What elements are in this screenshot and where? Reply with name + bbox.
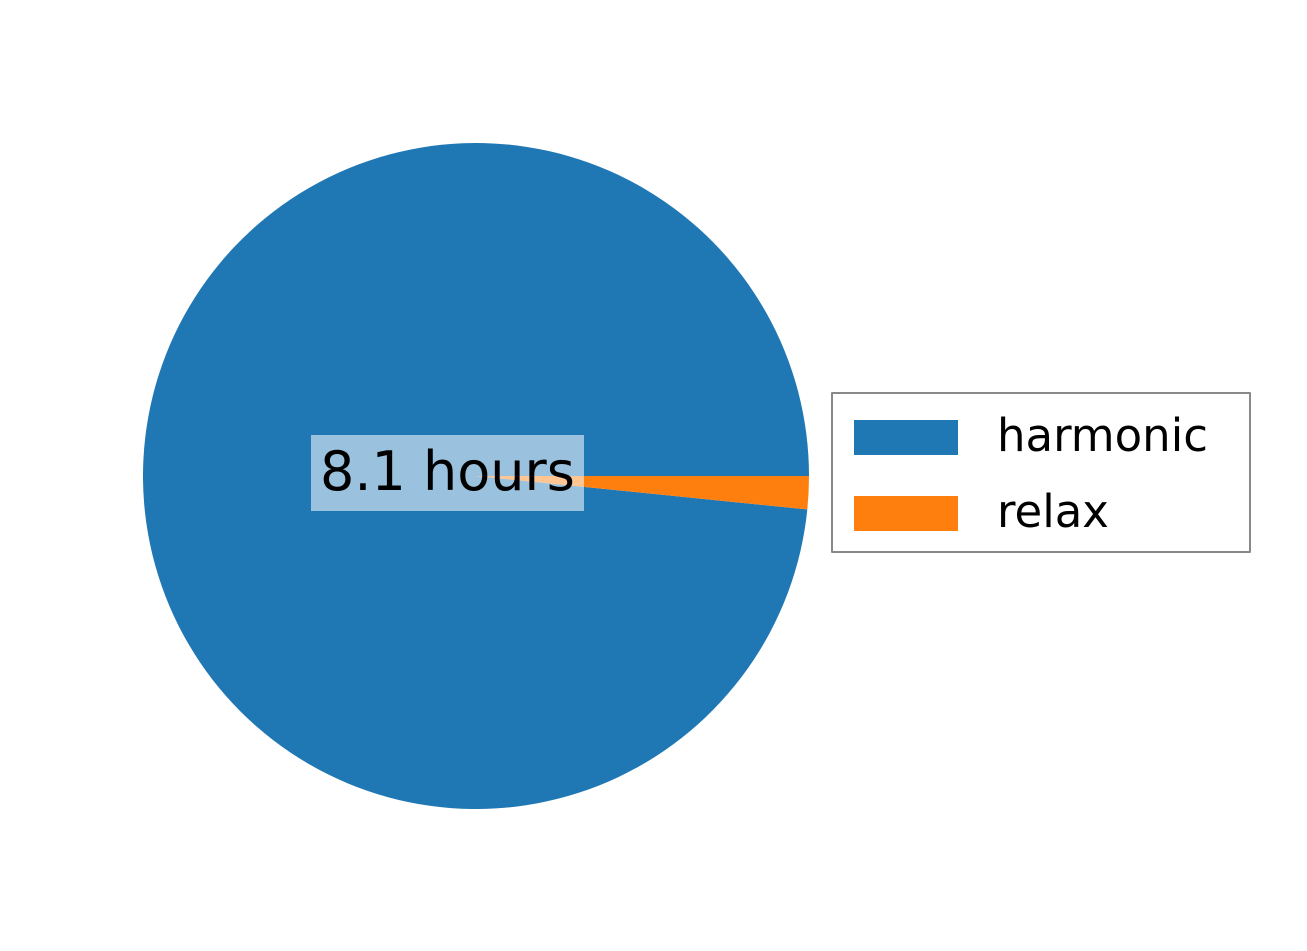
legend-label-harmonic: harmonic — [997, 407, 1208, 465]
legend-label-relax: relax — [997, 483, 1109, 541]
pie-label-harmonic: 8.1 hours — [311, 435, 584, 511]
figure-canvas: 8.1 hours harmonic relax — [0, 0, 1307, 951]
chart-legend: harmonic relax — [831, 392, 1251, 553]
legend-item-harmonic[interactable]: harmonic — [833, 409, 1249, 467]
legend-swatch-harmonic — [854, 420, 958, 455]
legend-swatch-relax — [854, 496, 958, 531]
pie-chart-axes: 8.1 hours harmonic relax — [0, 0, 1307, 951]
pie-label-harmonic-text: 8.1 hours — [320, 440, 575, 503]
legend-item-relax[interactable]: relax — [833, 485, 1249, 543]
